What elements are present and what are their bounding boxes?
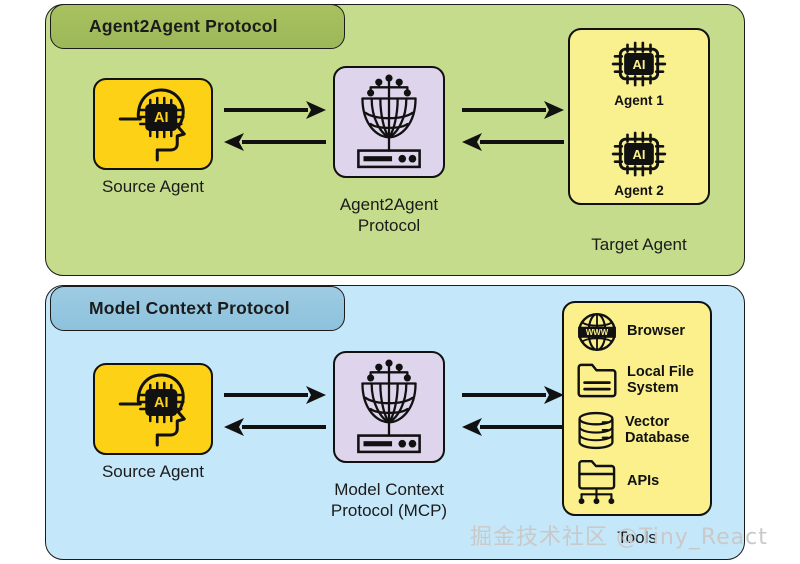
a2a-target-agent-label: Target Agent xyxy=(553,234,725,255)
head-ai-chip-icon xyxy=(101,84,205,164)
mcp-right-arrows xyxy=(460,383,566,444)
tool-item-apis-label: APIs xyxy=(627,474,659,490)
model-context-protocol-section-tab: Model Context Protocol xyxy=(50,286,345,331)
bidirectional-arrow-icon xyxy=(460,98,566,154)
tool-item-local-file-system-label: Local File System xyxy=(627,365,694,397)
a2a-protocol-label: Agent2Agent Protocol xyxy=(309,194,469,237)
bidirectional-arrow-icon xyxy=(222,98,328,154)
mcp-tools-box[interactable]: Browser Local File System Vector Databas… xyxy=(562,301,712,516)
tool-item-browser-label: Browser xyxy=(627,324,685,340)
a2a-protocol-box[interactable] xyxy=(333,66,445,178)
model-context-protocol-section-title: Model Context Protocol xyxy=(89,298,290,319)
database-cylinder-icon xyxy=(576,411,616,451)
agent2agent-section-tab: Agent2Agent Protocol xyxy=(50,4,345,49)
tool-item-vector-database-label: Vector Database xyxy=(625,415,689,447)
target-agent-item-2-label: Agent 2 xyxy=(570,183,708,198)
mcp-protocol-box[interactable] xyxy=(333,351,445,463)
mcp-protocol-label: Model Context Protocol (MCP) xyxy=(304,479,474,522)
mcp-left-arrows xyxy=(222,383,328,444)
tool-item-vector-database[interactable]: Vector Database xyxy=(576,411,689,451)
mcp-tools-label: Tools xyxy=(562,527,712,548)
network-server-icon xyxy=(351,72,427,172)
a2a-source-agent-box[interactable] xyxy=(93,78,213,170)
mcp-source-agent-label: Source Agent xyxy=(63,461,243,482)
network-server-icon xyxy=(351,357,427,457)
bidirectional-arrow-icon xyxy=(222,383,328,439)
a2a-left-arrows xyxy=(222,98,328,159)
ai-chip-icon xyxy=(611,41,667,87)
target-agent-item-1[interactable]: Agent 1 xyxy=(570,41,708,108)
bidirectional-arrow-icon xyxy=(460,383,566,439)
folder-network-icon xyxy=(576,458,618,506)
target-agent-item-2[interactable]: Agent 2 xyxy=(570,131,708,198)
ai-chip-icon xyxy=(611,131,667,177)
target-agent-item-1-label: Agent 1 xyxy=(570,93,708,108)
globe-www-icon xyxy=(576,311,618,353)
tool-item-apis[interactable]: APIs xyxy=(576,458,659,506)
tool-item-local-file-system[interactable]: Local File System xyxy=(576,361,694,400)
folder-icon xyxy=(576,361,618,400)
agent2agent-section-title: Agent2Agent Protocol xyxy=(89,16,278,37)
a2a-target-agent-box[interactable]: Agent 1 Agent 2 xyxy=(568,28,710,205)
mcp-source-agent-box[interactable] xyxy=(93,363,213,455)
head-ai-chip-icon xyxy=(101,369,205,449)
a2a-source-agent-label: Source Agent xyxy=(63,176,243,197)
tool-item-browser[interactable]: Browser xyxy=(576,311,685,353)
a2a-right-arrows xyxy=(460,98,566,159)
